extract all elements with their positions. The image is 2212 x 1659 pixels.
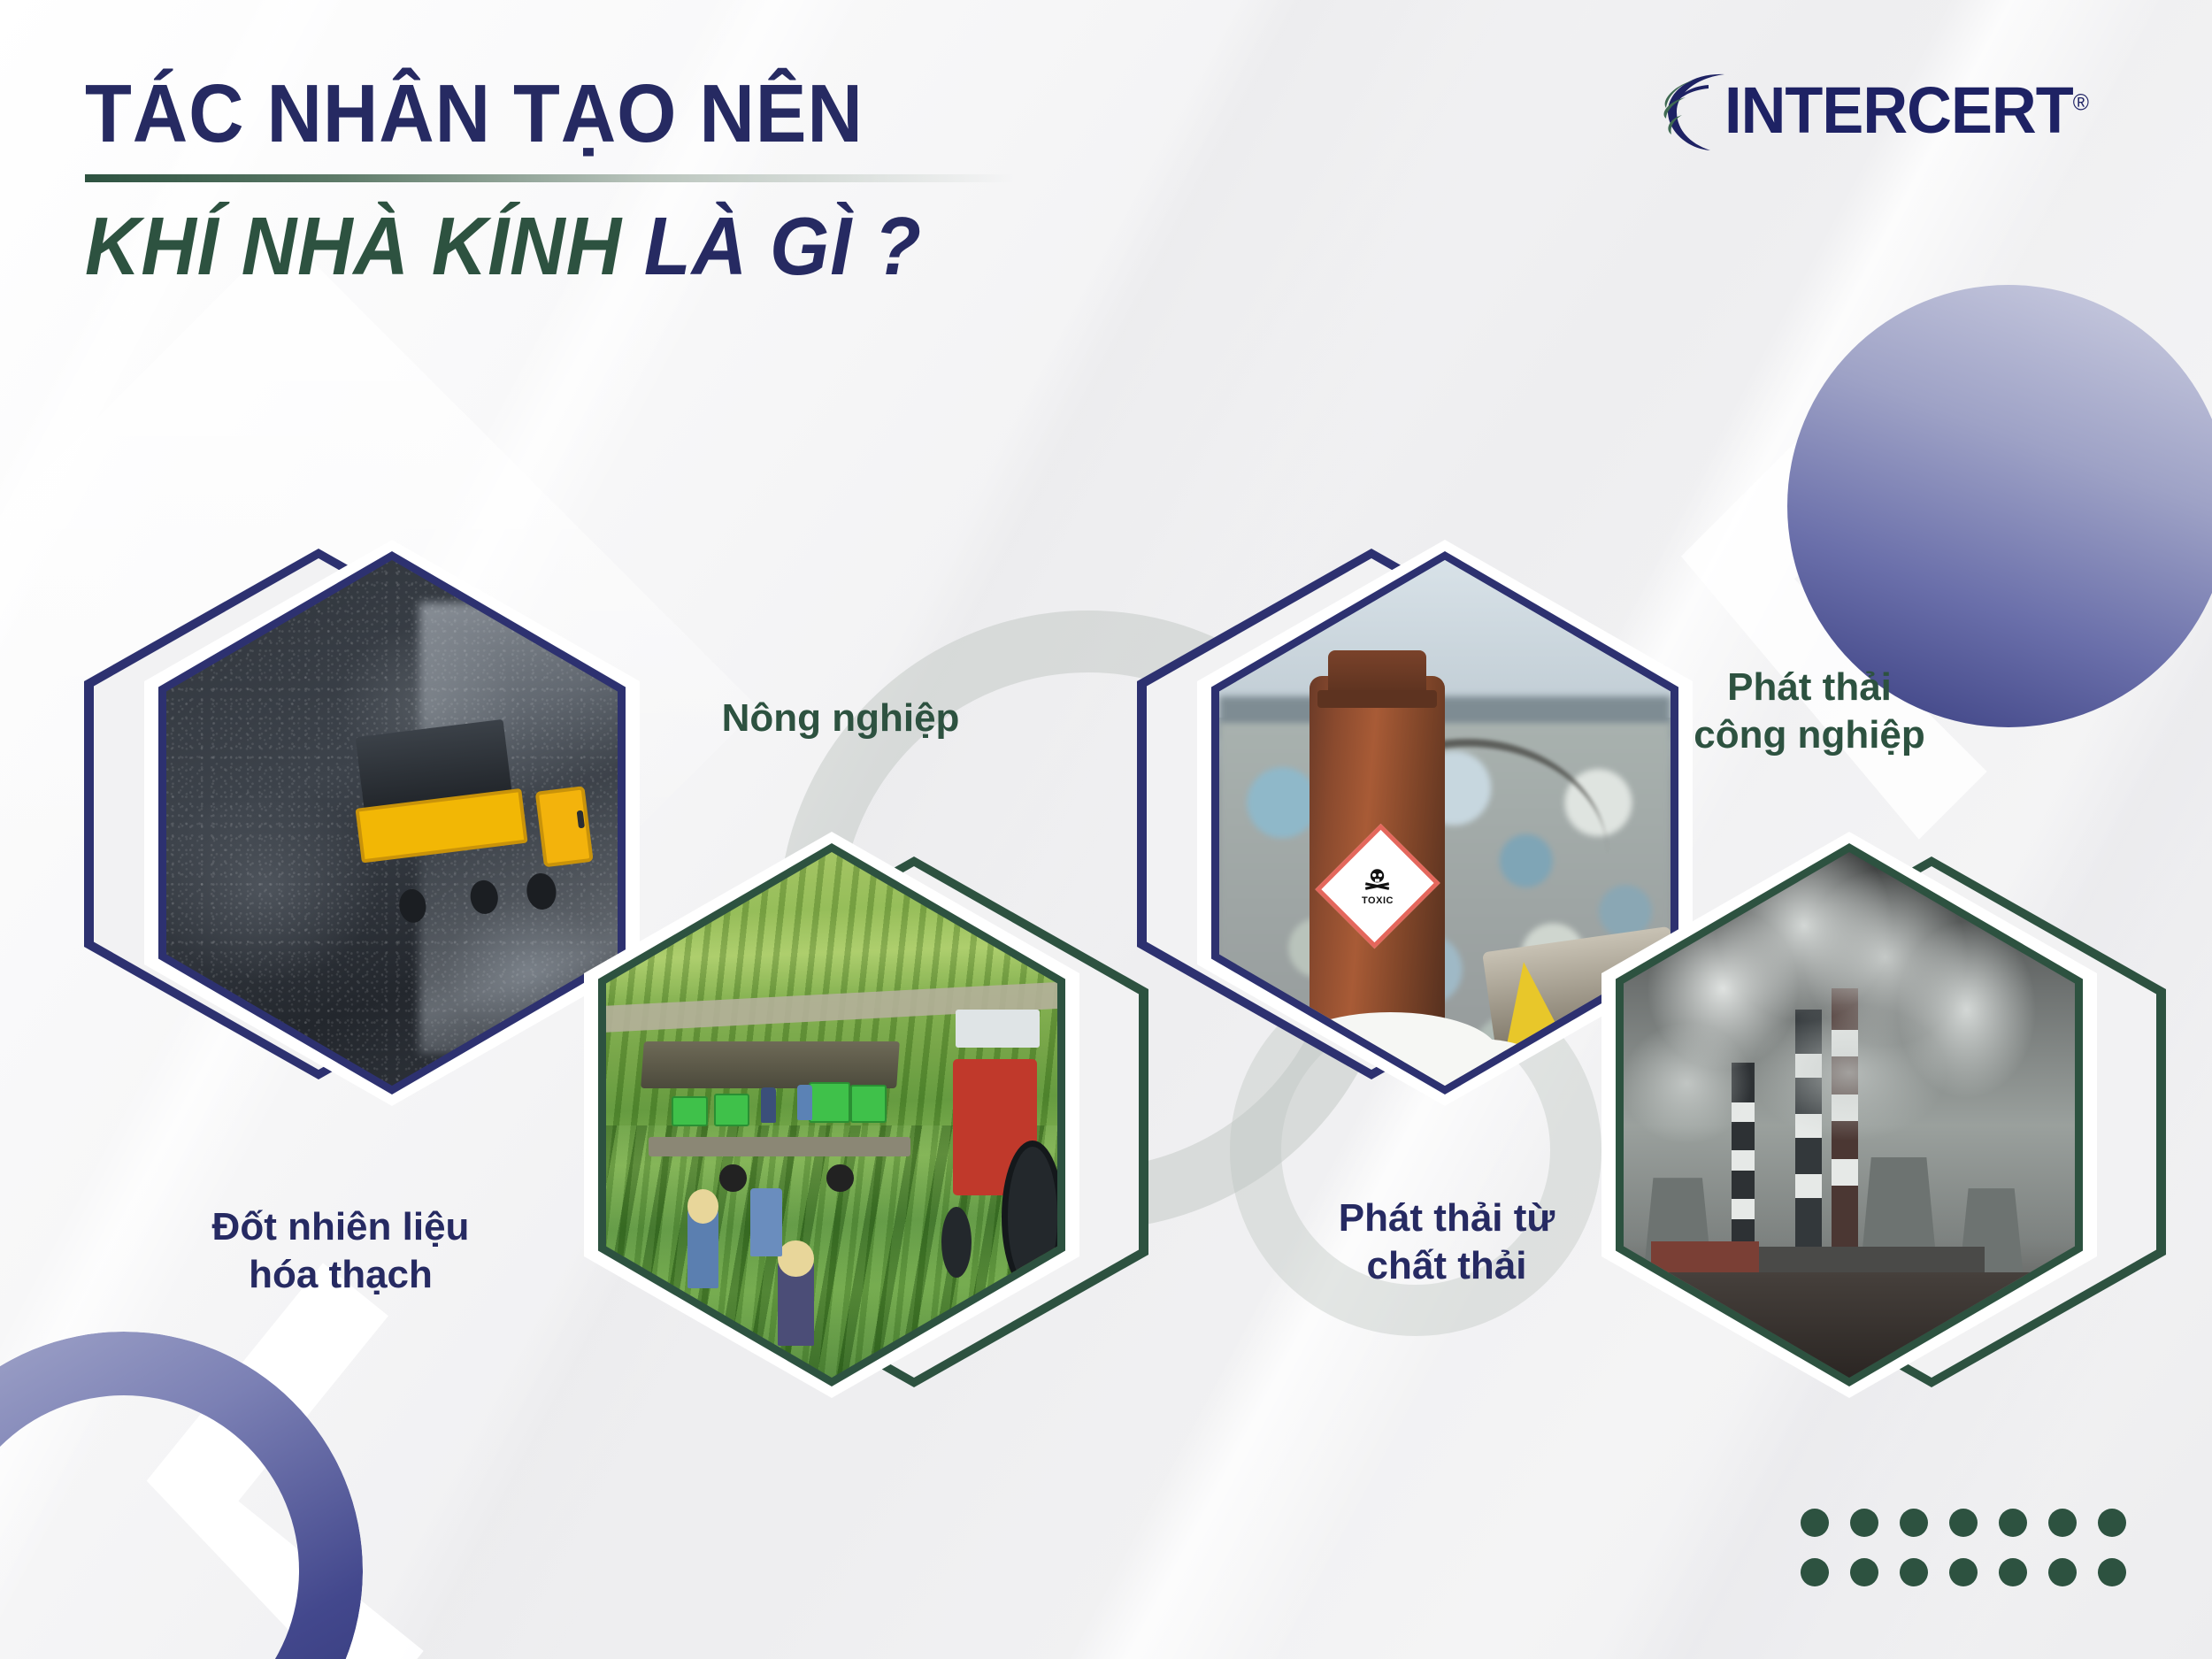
title-line-2-green: KHÍ NHÀ KÍNH — [85, 200, 622, 292]
dump-truck-icon — [353, 763, 593, 920]
intercert-logo[interactable]: INTERCERT® — [1655, 65, 2108, 154]
skull-crossbones-icon — [1363, 866, 1393, 896]
decorative-dot — [1801, 1558, 1829, 1586]
hex-card-industrial[interactable]: Phát thải công nghiệp — [1601, 832, 2168, 1451]
toxic-hazard-label: TOXIC — [1335, 840, 1419, 933]
decorative-dot — [1949, 1509, 1978, 1537]
tractor-icon — [931, 1010, 1057, 1283]
logo-wordmark: INTERCERT® — [1724, 73, 2088, 148]
title-divider-rule — [85, 174, 1054, 182]
title-line-2: KHÍ NHÀ KÍNH LÀ GÌ ? — [85, 205, 986, 288]
decorative-dot — [1999, 1509, 2027, 1537]
logo-text-label: INTERCERT — [1724, 73, 2073, 147]
field-worker-icon — [687, 1210, 719, 1288]
decorative-dot-grid — [1801, 1509, 2147, 1608]
decorative-dot — [1850, 1558, 1878, 1586]
toxic-text: TOXIC — [1362, 896, 1394, 907]
decorative-purple-circle — [1787, 285, 2212, 727]
hex-card-agriculture[interactable]: Nông nghiệp — [584, 832, 1150, 1451]
title-line-1: TÁC NHÂN TẠO NÊN — [85, 73, 986, 155]
hex-label-industrial: Phát thải công nghiệp — [1579, 664, 2039, 758]
decorative-dot — [1949, 1558, 1978, 1586]
decorative-dot — [2098, 1509, 2126, 1537]
hex-label-waste: Phát thải từ chất thải — [1230, 1194, 1663, 1289]
rusty-canister-icon: TOXIC — [1310, 676, 1445, 1033]
decorative-dot — [1801, 1509, 1829, 1537]
decorative-dot — [2048, 1558, 2077, 1586]
farm-trailer-icon — [642, 1041, 941, 1178]
decorative-dot — [1900, 1558, 1928, 1586]
decorative-dot — [2098, 1558, 2126, 1586]
title-line-2-navy: LÀ GÌ ? — [622, 200, 922, 292]
registered-trademark-icon: ® — [2073, 88, 2088, 115]
header: TÁC NHÂN TẠO NÊN KHÍ NHÀ KÍNH LÀ GÌ ? IN… — [0, 0, 2212, 319]
decorative-dot — [1850, 1509, 1878, 1537]
decorative-dot — [1900, 1509, 1928, 1537]
hex-label-agriculture: Nông nghiệp — [628, 695, 1053, 742]
hex-label-fossil-fuel: Đốt nhiên liệu hóa thạch — [111, 1203, 571, 1298]
hex-card-fossil-fuel[interactable]: Đốt nhiên liệu hóa thạch — [84, 540, 650, 1159]
decorative-dot — [2048, 1509, 2077, 1537]
field-worker-icon — [750, 1188, 782, 1256]
decorative-dot — [1999, 1558, 2027, 1586]
field-worker-icon — [778, 1262, 814, 1346]
page-title: TÁC NHÂN TẠO NÊN KHÍ NHÀ KÍNH LÀ GÌ ? — [85, 73, 1054, 288]
